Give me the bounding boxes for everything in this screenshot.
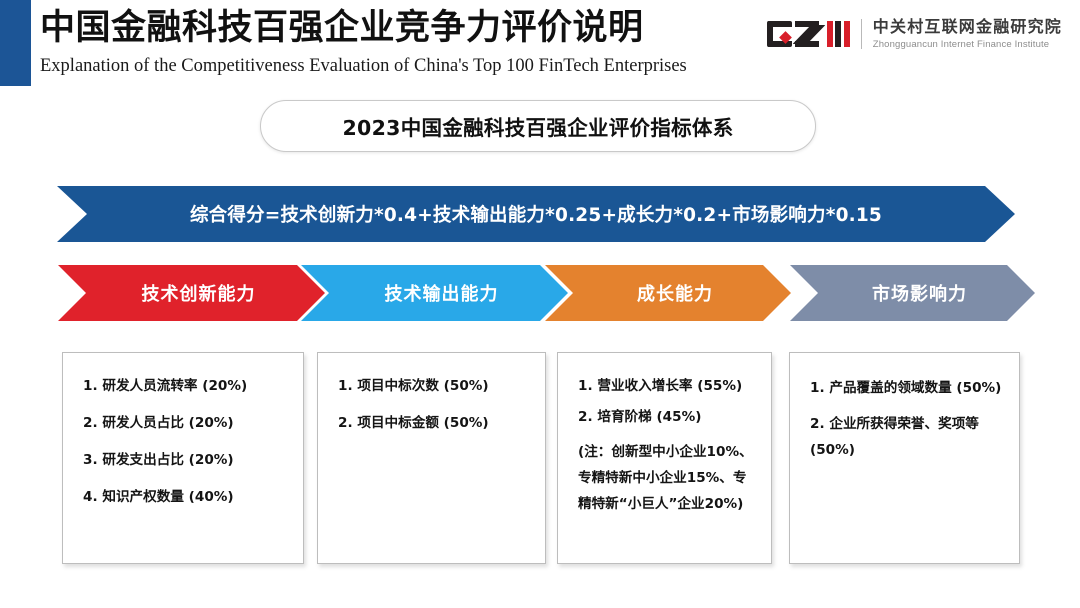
logo-letter-c-icon xyxy=(767,21,792,47)
indicator-item: 1. 研发人员流转率 (20%) xyxy=(83,377,289,395)
page-title-chinese: 中国金融科技百强企业竞争力评价说明 xyxy=(40,4,687,52)
indicator-item: 1. 营业收入增长率 (55%) xyxy=(578,377,757,395)
czifi-logomark-icon xyxy=(767,18,850,50)
chevron-label-1: 技术创新能力 xyxy=(128,280,256,306)
header-text-block: 中国金融科技百强企业竞争力评价说明 Explanation of the Com… xyxy=(40,4,687,79)
indicator-box-market-influence: 1. 产品覆盖的领域数量 (50%) 2. 企业所获得荣誉、奖项等 (50%) xyxy=(789,352,1020,564)
logo-name-block: 中关村互联网金融研究院 Zhongguancun Internet Financ… xyxy=(873,17,1062,51)
indicator-item: 3. 研发支出占比 (20%) xyxy=(83,451,289,469)
score-formula-text: 综合得分=技术创新力*0.4+技术输出能力*0.25+成长力*0.2+市场影响力… xyxy=(190,201,882,227)
indicator-box-tech-output: 1. 项目中标次数 (50%) 2. 项目中标金额 (50%) xyxy=(317,352,546,564)
indicator-item: 2. 企业所获得荣誉、奖项等 (50%) xyxy=(810,411,1005,463)
dimension-chevron-row: 技术创新能力 技术输出能力 成长能力 市场影响力 xyxy=(0,265,1080,321)
institute-logo: 中关村互联网金融研究院 Zhongguancun Internet Financ… xyxy=(767,12,1062,56)
indicator-item: 2. 研发人员占比 (20%) xyxy=(83,414,289,432)
indicator-box-growth: 1. 营业收入增长率 (55%) 2. 培育阶梯 (45%) (注：创新型中小企… xyxy=(557,352,772,564)
chevron-tech-output[interactable]: 技术输出能力 xyxy=(301,265,568,321)
logo-letter-i-icon xyxy=(827,21,833,47)
page-title-english: Explanation of the Competitiveness Evalu… xyxy=(40,53,687,79)
logo-name-english: Zhongguancun Internet Finance Institute xyxy=(873,38,1062,51)
indicator-item: 1. 项目中标次数 (50%) xyxy=(338,377,531,395)
chevron-label-4: 市场影响力 xyxy=(858,280,967,306)
indicator-detail-boxes: 1. 研发人员流转率 (20%) 2. 研发人员占比 (20%) 3. 研发支出… xyxy=(0,352,1080,564)
index-system-title-text: 2023中国金融科技百强企业评价指标体系 xyxy=(342,111,733,141)
logo-name-chinese: 中关村互联网金融研究院 xyxy=(873,17,1062,36)
indicator-item: 2. 培育阶梯 (45%) xyxy=(578,408,757,426)
index-system-title-box: 2023中国金融科技百强企业评价指标体系 xyxy=(260,100,816,152)
chevron-growth[interactable]: 成长能力 xyxy=(545,265,791,321)
indicator-item: 2. 项目中标金额 (50%) xyxy=(338,414,531,432)
chevron-tech-innovation[interactable]: 技术创新能力 xyxy=(58,265,325,321)
logo-letter-f-stem-icon xyxy=(835,21,841,47)
logo-letter-i2-icon xyxy=(844,21,850,47)
chevron-label-3: 成长能力 xyxy=(623,280,713,306)
header-accent-bar xyxy=(0,0,31,86)
indicator-note: (注：创新型中小企业10%、专精特新中小企业15%、专精特新“小巨人”企业20%… xyxy=(578,439,757,517)
score-formula-banner: 综合得分=技术创新力*0.4+技术输出能力*0.25+成长力*0.2+市场影响力… xyxy=(57,186,1015,242)
logo-letter-z-icon xyxy=(795,21,819,47)
logo-divider xyxy=(861,19,862,49)
slide-root: 中国金融科技百强企业竞争力评价说明 Explanation of the Com… xyxy=(0,0,1080,608)
indicator-item: 4. 知识产权数量 (40%) xyxy=(83,488,289,506)
indicator-item: 1. 产品覆盖的领域数量 (50%) xyxy=(810,377,1005,399)
chevron-label-2: 技术输出能力 xyxy=(371,280,499,306)
indicator-box-tech-innovation: 1. 研发人员流转率 (20%) 2. 研发人员占比 (20%) 3. 研发支出… xyxy=(62,352,304,564)
chevron-market-influence[interactable]: 市场影响力 xyxy=(790,265,1035,321)
